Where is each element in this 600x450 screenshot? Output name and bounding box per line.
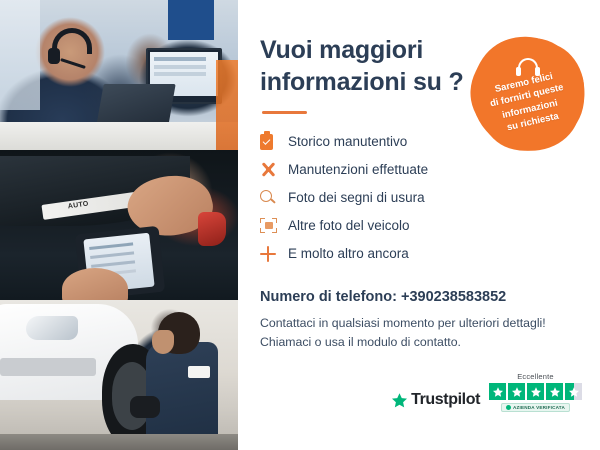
star-filled (489, 383, 506, 400)
badge-text: Saremo felici di fornirti queste informa… (485, 68, 570, 137)
headline-line-1: Vuoi maggiori (260, 36, 423, 64)
photo-mechanic-inspecting-wheel (0, 300, 238, 450)
title-divider (262, 111, 307, 114)
star-filled (508, 383, 525, 400)
headset-earcup (48, 48, 60, 64)
mechanic-face (152, 330, 174, 354)
plus-icon (260, 246, 288, 262)
headset-microphone (60, 58, 86, 69)
contact-text-line-2: Chiamaci o usa il modulo di contatto. (260, 333, 578, 352)
phone-line: Numero di telefono: +390238583852 (260, 289, 578, 305)
verified-label: AZIENDA VERIFICATA (513, 405, 565, 410)
desk-surface (0, 122, 238, 150)
photo-vehicle-inspection-strip-tablet (0, 150, 238, 300)
trustpilot-wordmark: Trustpilot (411, 391, 480, 409)
feature-label: Storico manutentivo (288, 134, 407, 149)
vehicle-lift-platform (0, 434, 238, 450)
crossed-tools-icon (260, 161, 288, 178)
mechanic-glove (130, 396, 160, 418)
laptop (96, 84, 175, 126)
trustpilot-rating-block: Eccellente AZIENDA VERIFICATA (489, 372, 582, 412)
car-grille (0, 358, 96, 376)
office-window (0, 0, 40, 110)
star-filled (527, 383, 544, 400)
promo-card: Saremo felici di fornirti queste informa… (0, 0, 600, 450)
phone-number[interactable]: +390238583852 (401, 289, 506, 305)
feature-label: Foto dei segni di usura (288, 190, 425, 205)
feature-label: E molto altro ancora (288, 246, 409, 261)
scan-frame-icon (260, 218, 288, 233)
star-partial (565, 383, 582, 400)
trustpilot-star-icon (391, 392, 408, 409)
car-headlight (26, 316, 78, 340)
list-item: Manutenzioni effettuate (260, 156, 578, 183)
trustpilot-rating-label: Eccellente (517, 372, 554, 381)
info-on-request-badge: Saremo felici di fornirti queste informa… (472, 38, 584, 150)
magnifier-icon (260, 190, 288, 206)
contact-text: Contattaci in qualsiasi momento per ulte… (260, 314, 578, 352)
verified-check-icon (506, 405, 511, 410)
tail-light (198, 212, 226, 246)
content-panel: Saremo felici di fornirti queste informa… (238, 0, 600, 450)
trustpilot-widget[interactable]: Trustpilot Eccellente AZIENDA VERIFICATA (391, 372, 582, 412)
star-filled (546, 383, 563, 400)
feature-label: Manutenzioni effettuate (288, 162, 428, 177)
feature-label: Altre foto del veicolo (288, 218, 410, 233)
verified-company-badge: AZIENDA VERIFICATA (501, 403, 570, 412)
uniform-logo-patch (188, 366, 210, 378)
badge-content: Saremo felici di fornirti queste informa… (472, 38, 584, 150)
list-item: E molto altro ancora (260, 240, 578, 267)
wall-banner (168, 0, 214, 40)
photo-column (0, 0, 238, 450)
contact-text-line-1: Contattaci in qualsiasi momento per ulte… (260, 314, 578, 333)
photo-call-center-agents-with-headsets (0, 0, 238, 150)
headline-line-2: informazioni su ? (260, 68, 464, 96)
orange-wall-accent (216, 60, 238, 150)
list-item: Altre foto del veicolo (260, 212, 578, 239)
phone-label: Numero di telefono: (260, 289, 397, 305)
clipboard-check-icon (260, 134, 288, 150)
trustpilot-brand: Trustpilot (391, 391, 480, 412)
trustpilot-stars (489, 383, 582, 400)
list-item: Foto dei segni di usura (260, 184, 578, 211)
headset-icon (518, 58, 538, 71)
